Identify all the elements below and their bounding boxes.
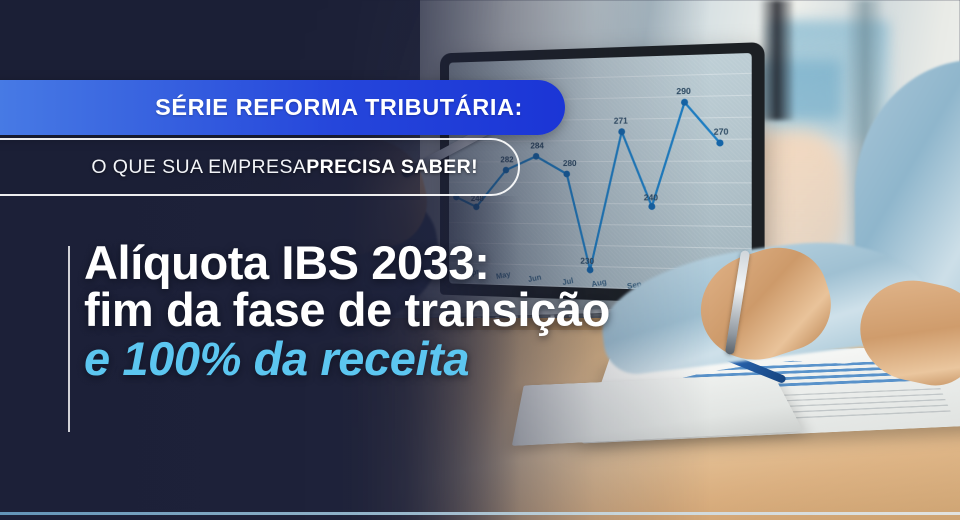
subtitle-bold-text: PRECISA SABER! — [306, 156, 478, 179]
series-kicker-text: SÉRIE REFORMA TRIBUTÁRIA: — [155, 94, 523, 121]
subtitle-light-text: O QUE SUA EMPRESA — [91, 156, 306, 179]
headline-line-2: fim da fase de transição — [84, 287, 764, 334]
headline-block: Alíquota IBS 2033: fim da fase de transi… — [84, 240, 764, 384]
subtitle-pill: O QUE SUA EMPRESA PRECISA SABER! — [0, 138, 520, 196]
headline-line-1: Alíquota IBS 2033: — [84, 240, 764, 287]
headline-line-3-accent: e 100% da receita — [84, 335, 764, 384]
marketing-banner: 248 282 284 280 230 271 240 290 270 Apr … — [0, 0, 960, 520]
headline-accent-rule — [68, 246, 70, 432]
series-kicker-banner: SÉRIE REFORMA TRIBUTÁRIA: — [0, 80, 565, 135]
bottom-accent-line — [0, 512, 960, 515]
